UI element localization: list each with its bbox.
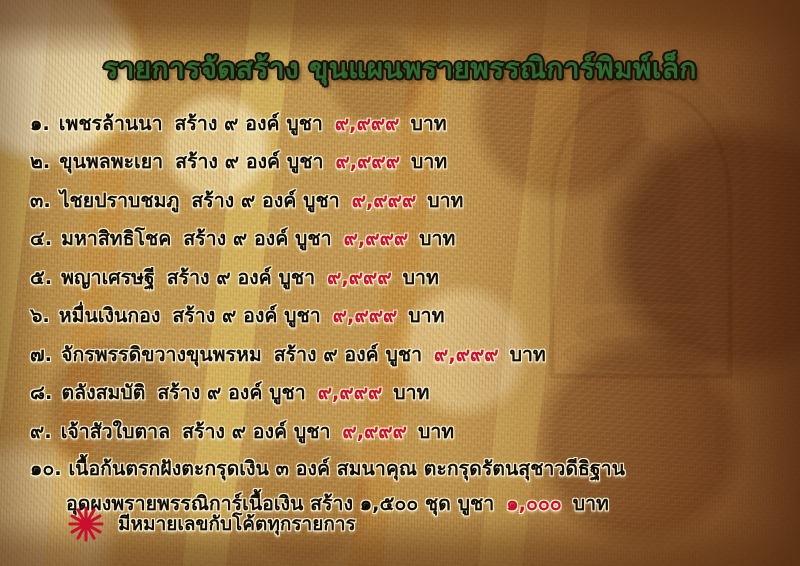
- item-name: พญาเศรษฐี: [61, 262, 155, 293]
- item-detail: สร้าง ๙ องค์ บูชา: [157, 377, 305, 408]
- list-item: ๙. เจ้าสัวใบตาล สร้าง ๙ องค์ บูชา ๙,๙๙๙ …: [30, 412, 772, 451]
- item-price: ๙,๙๙๙: [333, 300, 398, 331]
- list-item: ๖. หมื่นเงินกอง สร้าง ๙ องค์ บูชา ๙,๙๙๙ …: [30, 297, 772, 336]
- item-currency: บาท: [573, 488, 609, 519]
- item-detail: สร้าง ๙ องค์ บูชา: [183, 223, 331, 254]
- item-detail: สร้าง ๙ องค์ บูชา: [167, 262, 315, 293]
- item-detail: สร้าง ๙ องค์ บูชา: [191, 185, 339, 216]
- item-number: ๙.: [30, 416, 52, 447]
- item-price: ๙,๙๙๙: [327, 262, 392, 293]
- item-currency: บาท: [408, 300, 444, 331]
- item-price: ๙,๙๙๙: [344, 223, 409, 254]
- item-number: ๘.: [30, 377, 52, 408]
- footer-note: มีหมายเลขกับโค้ตทุกรายการ: [68, 506, 356, 542]
- list-item: ๔. มหาสิทธิโชค สร้าง ๙ องค์ บูชา ๙,๙๙๙ บ…: [30, 220, 772, 259]
- list-item: ๓. ไชยปราบชมภู สร้าง ๙ องค์ บูชา ๙,๙๙๙ บ…: [30, 181, 772, 220]
- item-number: ๒.: [30, 146, 50, 177]
- item-name: ไชยปราบชมภู: [60, 185, 180, 216]
- item-name: เพชรล้านนา: [59, 108, 163, 139]
- item-currency: บาท: [411, 146, 447, 177]
- poster-title-bar: รายการจัดสร้าง ขุนแผนพรายพรรณิการ์พิมพ์เ…: [0, 46, 800, 92]
- item-detail: สร้าง ๙ องค์ บูชา: [182, 416, 330, 447]
- list-item: ๗. จักรพรรดิขวางขุนพรหม สร้าง ๙ องค์ บูช…: [30, 335, 772, 374]
- red-starburst-icon: [68, 506, 104, 542]
- item-name: ตลังสมบัติ: [61, 377, 145, 408]
- item-price: ๙,๙๙๙: [342, 416, 407, 447]
- list-item: ๒. ขุนพลพะเยา สร้าง ๙ องค์ บูชา ๙,๙๙๙ บา…: [30, 143, 772, 182]
- item-number: ๖.: [30, 300, 50, 331]
- item-price: ๙,๙๙๙: [318, 377, 383, 408]
- item-number: ๑.: [30, 108, 50, 139]
- item-currency: บาท: [510, 339, 546, 370]
- item-detail: สร้าง ๙ องค์ บูชา: [175, 146, 323, 177]
- page-title: รายการจัดสร้าง ขุนแผนพรายพรรณิการ์พิมพ์เ…: [103, 47, 697, 91]
- footer-note-text: มีหมายเลขกับโค้ตทุกรายการ: [118, 509, 356, 539]
- item-price: ๑,๐๐๐: [506, 488, 562, 519]
- item-number: ๓.: [30, 185, 51, 216]
- item-number: ๗.: [30, 339, 52, 370]
- item-price: ๙,๙๙๙: [434, 339, 499, 370]
- item-currency: บาท: [410, 108, 446, 139]
- item-name: หมื่นเงินกอง: [59, 300, 161, 331]
- list-item-10-line1: ๑๐. เนื้อก้นตรกฝังตะกรุดเงิน ๓ องค์ สมนา…: [30, 451, 772, 486]
- list-item: ๕. พญาเศรษฐี สร้าง ๙ องค์ บูชา ๙,๙๙๙ บาท: [30, 258, 772, 297]
- item-name: จักรพรรดิขวางขุนพรหม: [61, 339, 262, 370]
- item-price: ๙,๙๙๙: [335, 146, 400, 177]
- item-currency: บาท: [403, 262, 439, 293]
- item-name: มหาสิทธิโชค: [61, 223, 171, 254]
- item-price: ๙,๙๙๙: [352, 185, 417, 216]
- item-detail: สร้าง ๙ องค์ บูชา: [274, 339, 422, 370]
- item-currency: บาท: [419, 223, 455, 254]
- amulet-item-list: ๑. เพชรล้านนา สร้าง ๙ องค์ บูชา ๙,๙๙๙ บา…: [30, 104, 772, 521]
- item-currency: บาท: [393, 377, 429, 408]
- amulet-price-list-poster: รายการจัดสร้าง ขุนแผนพรายพรรณิการ์พิมพ์เ…: [0, 0, 800, 566]
- item-price: ๙,๙๙๙: [335, 108, 400, 139]
- item-number: ๕.: [30, 262, 52, 293]
- item-number: ๔.: [30, 223, 52, 254]
- item-detail: สร้าง ๙ องค์ บูชา: [172, 300, 320, 331]
- list-item: ๑. เพชรล้านนา สร้าง ๙ องค์ บูชา ๙,๙๙๙ บา…: [30, 104, 772, 143]
- item-currency: บาท: [427, 185, 463, 216]
- item-name: ขุนพลพะเยา: [59, 146, 163, 177]
- item-currency: บาท: [418, 416, 454, 447]
- item-detail: สร้าง ๙ องค์ บูชา: [175, 108, 323, 139]
- list-item: ๘. ตลังสมบัติ สร้าง ๙ องค์ บูชา ๙,๙๙๙ บา…: [30, 374, 772, 413]
- item-detail: ๑๐. เนื้อก้นตรกฝังตะกรุดเงิน ๓ องค์ สมนา…: [30, 453, 625, 484]
- item-name: เจ้าสัวใบตาล: [61, 416, 170, 447]
